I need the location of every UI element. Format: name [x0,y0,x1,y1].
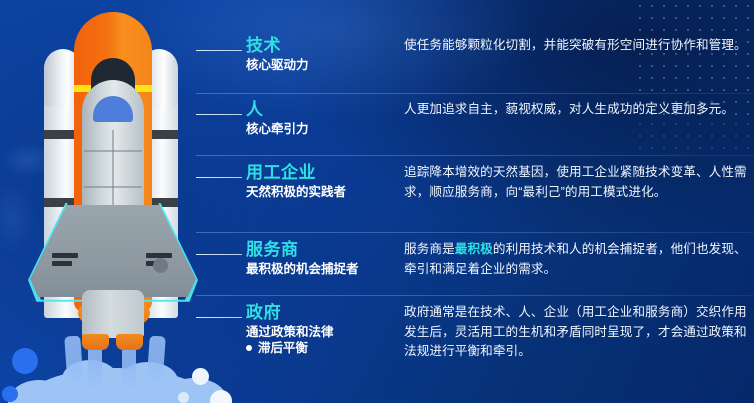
row-subtitle2-text: 滞后平衡 [258,340,308,356]
content-rows: 技术 核心驱动力 使任务能够颗粒化切割，并能突破有形空间进行协作和管理。 人 核… [0,0,754,403]
row-subtitle-service-provider: 最积极的机会捕捉者 [246,261,396,277]
bullet-dot-icon [246,345,252,351]
body-text-pre: 服务商是 [404,242,455,256]
row-subtitle-technology: 核心驱动力 [246,57,396,73]
row-title-technology: 技术 [246,36,396,56]
row-title-service-provider: 服务商 [246,240,396,260]
row-title-people: 人 [246,100,396,120]
label-column-government: 政府 通过政策和法律 滞后平衡 [246,303,396,356]
label-column-people: 人 核心牵引力 [246,100,396,137]
connector-line-people [196,114,242,115]
row-subtitle-people: 核心牵引力 [246,121,396,137]
slide-canvas: 技术 核心驱动力 使任务能够颗粒化切割，并能突破有形空间进行协作和管理。 人 核… [0,0,754,403]
row-subtitle2-government: 滞后平衡 [246,340,396,356]
row-subtitle-employer-enterprise: 天然积极的实践者 [246,184,396,200]
row-body-government: 政府通常是在技术、人、企业（用工企业和服务商）交织作用发生后，灵活用工的生机和矛… [404,303,748,362]
body-text-highlight: 最积极 [455,242,493,256]
row-body-employer-enterprise: 追踪降本增效的天然基因，使用工企业紧随技术变革、人性需求，顺应服务商，向“最利己… [404,163,748,202]
row-subtitle-government: 通过政策和法律 [246,324,396,340]
connector-line-technology [196,50,242,51]
connector-line-government [196,317,242,318]
label-column-service-provider: 服务商 最积极的机会捕捉者 [246,240,396,277]
row-body-technology: 使任务能够颗粒化切割，并能突破有形空间进行协作和管理。 [404,36,748,56]
row-title-employer-enterprise: 用工企业 [246,163,396,183]
label-column-employer-enterprise: 用工企业 天然积极的实践者 [246,163,396,200]
row-divider [196,232,754,233]
row-divider [196,93,754,94]
row-divider [196,155,754,156]
connector-line-service-provider [196,254,242,255]
row-divider [196,295,754,296]
row-body-people: 人更加追求自主，藐视权威，对人生成功的定义更加多元。 [404,100,748,120]
row-title-government: 政府 [246,303,396,323]
row-body-service-provider: 服务商是最积极的利用技术和人的机会捕捉者，他们也发现、牵引和满足着企业的需求。 [404,240,748,279]
label-column-technology: 技术 核心驱动力 [246,36,396,73]
connector-line-employer-enterprise [196,177,242,178]
